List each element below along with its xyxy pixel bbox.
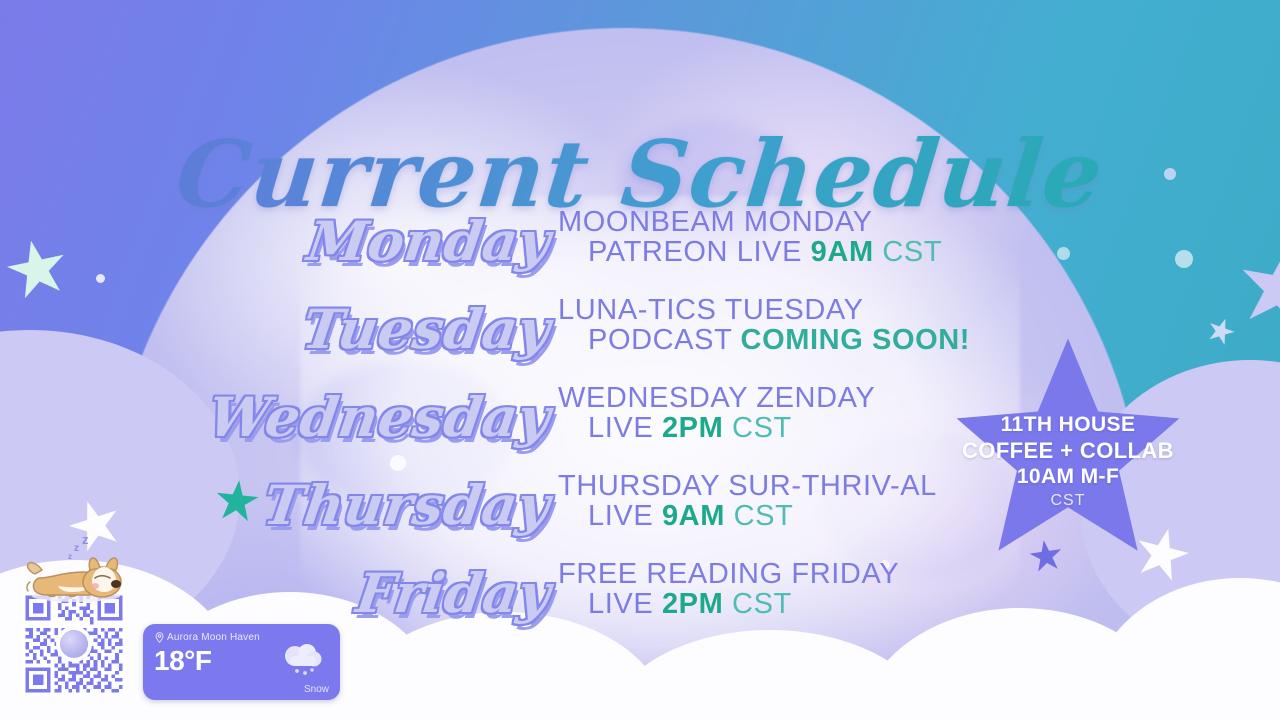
- badge-line-2: COFFEE + COLLAB: [952, 438, 1184, 465]
- event-title: LUNA-TICS TUESDAY: [558, 296, 970, 326]
- qr-code[interactable]: [22, 592, 126, 696]
- event-timezone: CST: [874, 236, 942, 268]
- weather-temperature: 18°F: [154, 645, 211, 677]
- event-friday: FREE READING FRIDAY LIVE 2PM CST: [558, 560, 899, 619]
- sleep-z-medium: z: [74, 543, 79, 554]
- event-time: 9AM: [662, 500, 725, 532]
- sleep-z-small: z: [68, 552, 72, 561]
- event-tuesday: LUNA-TICS TUESDAY PODCAST COMING SOON!: [558, 296, 970, 355]
- star-icon: [1234, 242, 1280, 335]
- event-detail-prefix: LIVE: [588, 412, 662, 444]
- moon-speck: [1057, 247, 1070, 260]
- schedule-row: Wednesday WEDNESDAY ZENDAY LIVE 2PM CST: [0, 390, 1020, 478]
- event-detail: LIVE 2PM CST: [558, 590, 899, 620]
- weather-location: Aurora Moon Haven: [167, 632, 260, 643]
- day-label-thursday: Thursday: [261, 478, 554, 532]
- event-timezone: CST: [725, 500, 793, 532]
- event-coming-soon: COMING SOON!: [741, 324, 971, 356]
- badge-line-3: 10AM M-F: [952, 464, 1184, 490]
- event-time: 2PM: [662, 412, 723, 444]
- weather-widget[interactable]: Aurora Moon Haven 18°F Snow: [143, 624, 340, 700]
- snow-cloud-icon: [278, 640, 324, 683]
- event-title: FREE READING FRIDAY: [558, 560, 899, 590]
- schedule-row: Monday MOONBEAM MONDAY PATREON LIVE 9AM …: [0, 214, 1020, 302]
- event-timezone: CST: [723, 412, 791, 444]
- badge-line-1: 11TH HOUSE: [952, 412, 1184, 438]
- event-detail-prefix: PATREON LIVE: [588, 236, 811, 268]
- weather-condition: Snow: [304, 684, 329, 695]
- sleep-z-large: z: [82, 532, 89, 547]
- sleeping-corgi: z z z: [24, 548, 128, 602]
- map-pin-icon: [155, 632, 164, 643]
- event-title: THURSDAY SUR-THRIV-AL: [558, 472, 937, 502]
- star-badge: 11TH HOUSE COFFEE + COLLAB 10AM M-F CST: [952, 334, 1184, 562]
- moon-speck: [1175, 250, 1193, 268]
- weather-location-row: Aurora Moon Haven: [155, 632, 260, 643]
- event-title: MOONBEAM MONDAY: [558, 208, 942, 238]
- moon-logo: [60, 630, 88, 658]
- day-label-friday: Friday: [353, 566, 554, 620]
- event-detail: LIVE 2PM CST: [558, 414, 875, 444]
- event-detail: PODCAST COMING SOON!: [558, 326, 970, 356]
- event-detail: LIVE 9AM CST: [558, 502, 937, 532]
- schedule-row: Tuesday LUNA-TICS TUESDAY PODCAST COMING…: [0, 302, 1020, 390]
- event-detail-prefix: LIVE: [588, 588, 662, 620]
- event-title: WEDNESDAY ZENDAY: [558, 384, 875, 414]
- day-label-monday: Monday: [304, 214, 554, 268]
- event-detail-prefix: LIVE: [588, 500, 662, 532]
- schedule-list: Monday MOONBEAM MONDAY PATREON LIVE 9AM …: [0, 214, 1020, 654]
- schedule-row: Thursday THURSDAY SUR-THRIV-AL LIVE 9AM …: [0, 478, 1020, 566]
- event-monday: MOONBEAM MONDAY PATREON LIVE 9AM CST: [558, 208, 942, 267]
- day-label-tuesday: Tuesday: [299, 302, 553, 356]
- event-time: 9AM: [811, 236, 874, 268]
- event-wednesday: WEDNESDAY ZENDAY LIVE 2PM CST: [558, 384, 875, 443]
- stream-overlay-stage: Current Schedule Monday MOONBEAM MONDAY …: [0, 0, 1280, 720]
- star-badge-text: 11TH HOUSE COFFEE + COLLAB 10AM M-F CST: [952, 412, 1184, 511]
- star-icon: [1204, 314, 1237, 347]
- badge-line-4: CST: [952, 491, 1184, 511]
- event-timezone: CST: [723, 588, 791, 620]
- event-detail: PATREON LIVE 9AM CST: [558, 238, 942, 268]
- event-thursday: THURSDAY SUR-THRIV-AL LIVE 9AM CST: [558, 472, 937, 531]
- event-detail-prefix: PODCAST: [588, 324, 741, 356]
- event-time: 2PM: [662, 588, 723, 620]
- day-label-wednesday: Wednesday: [205, 390, 554, 444]
